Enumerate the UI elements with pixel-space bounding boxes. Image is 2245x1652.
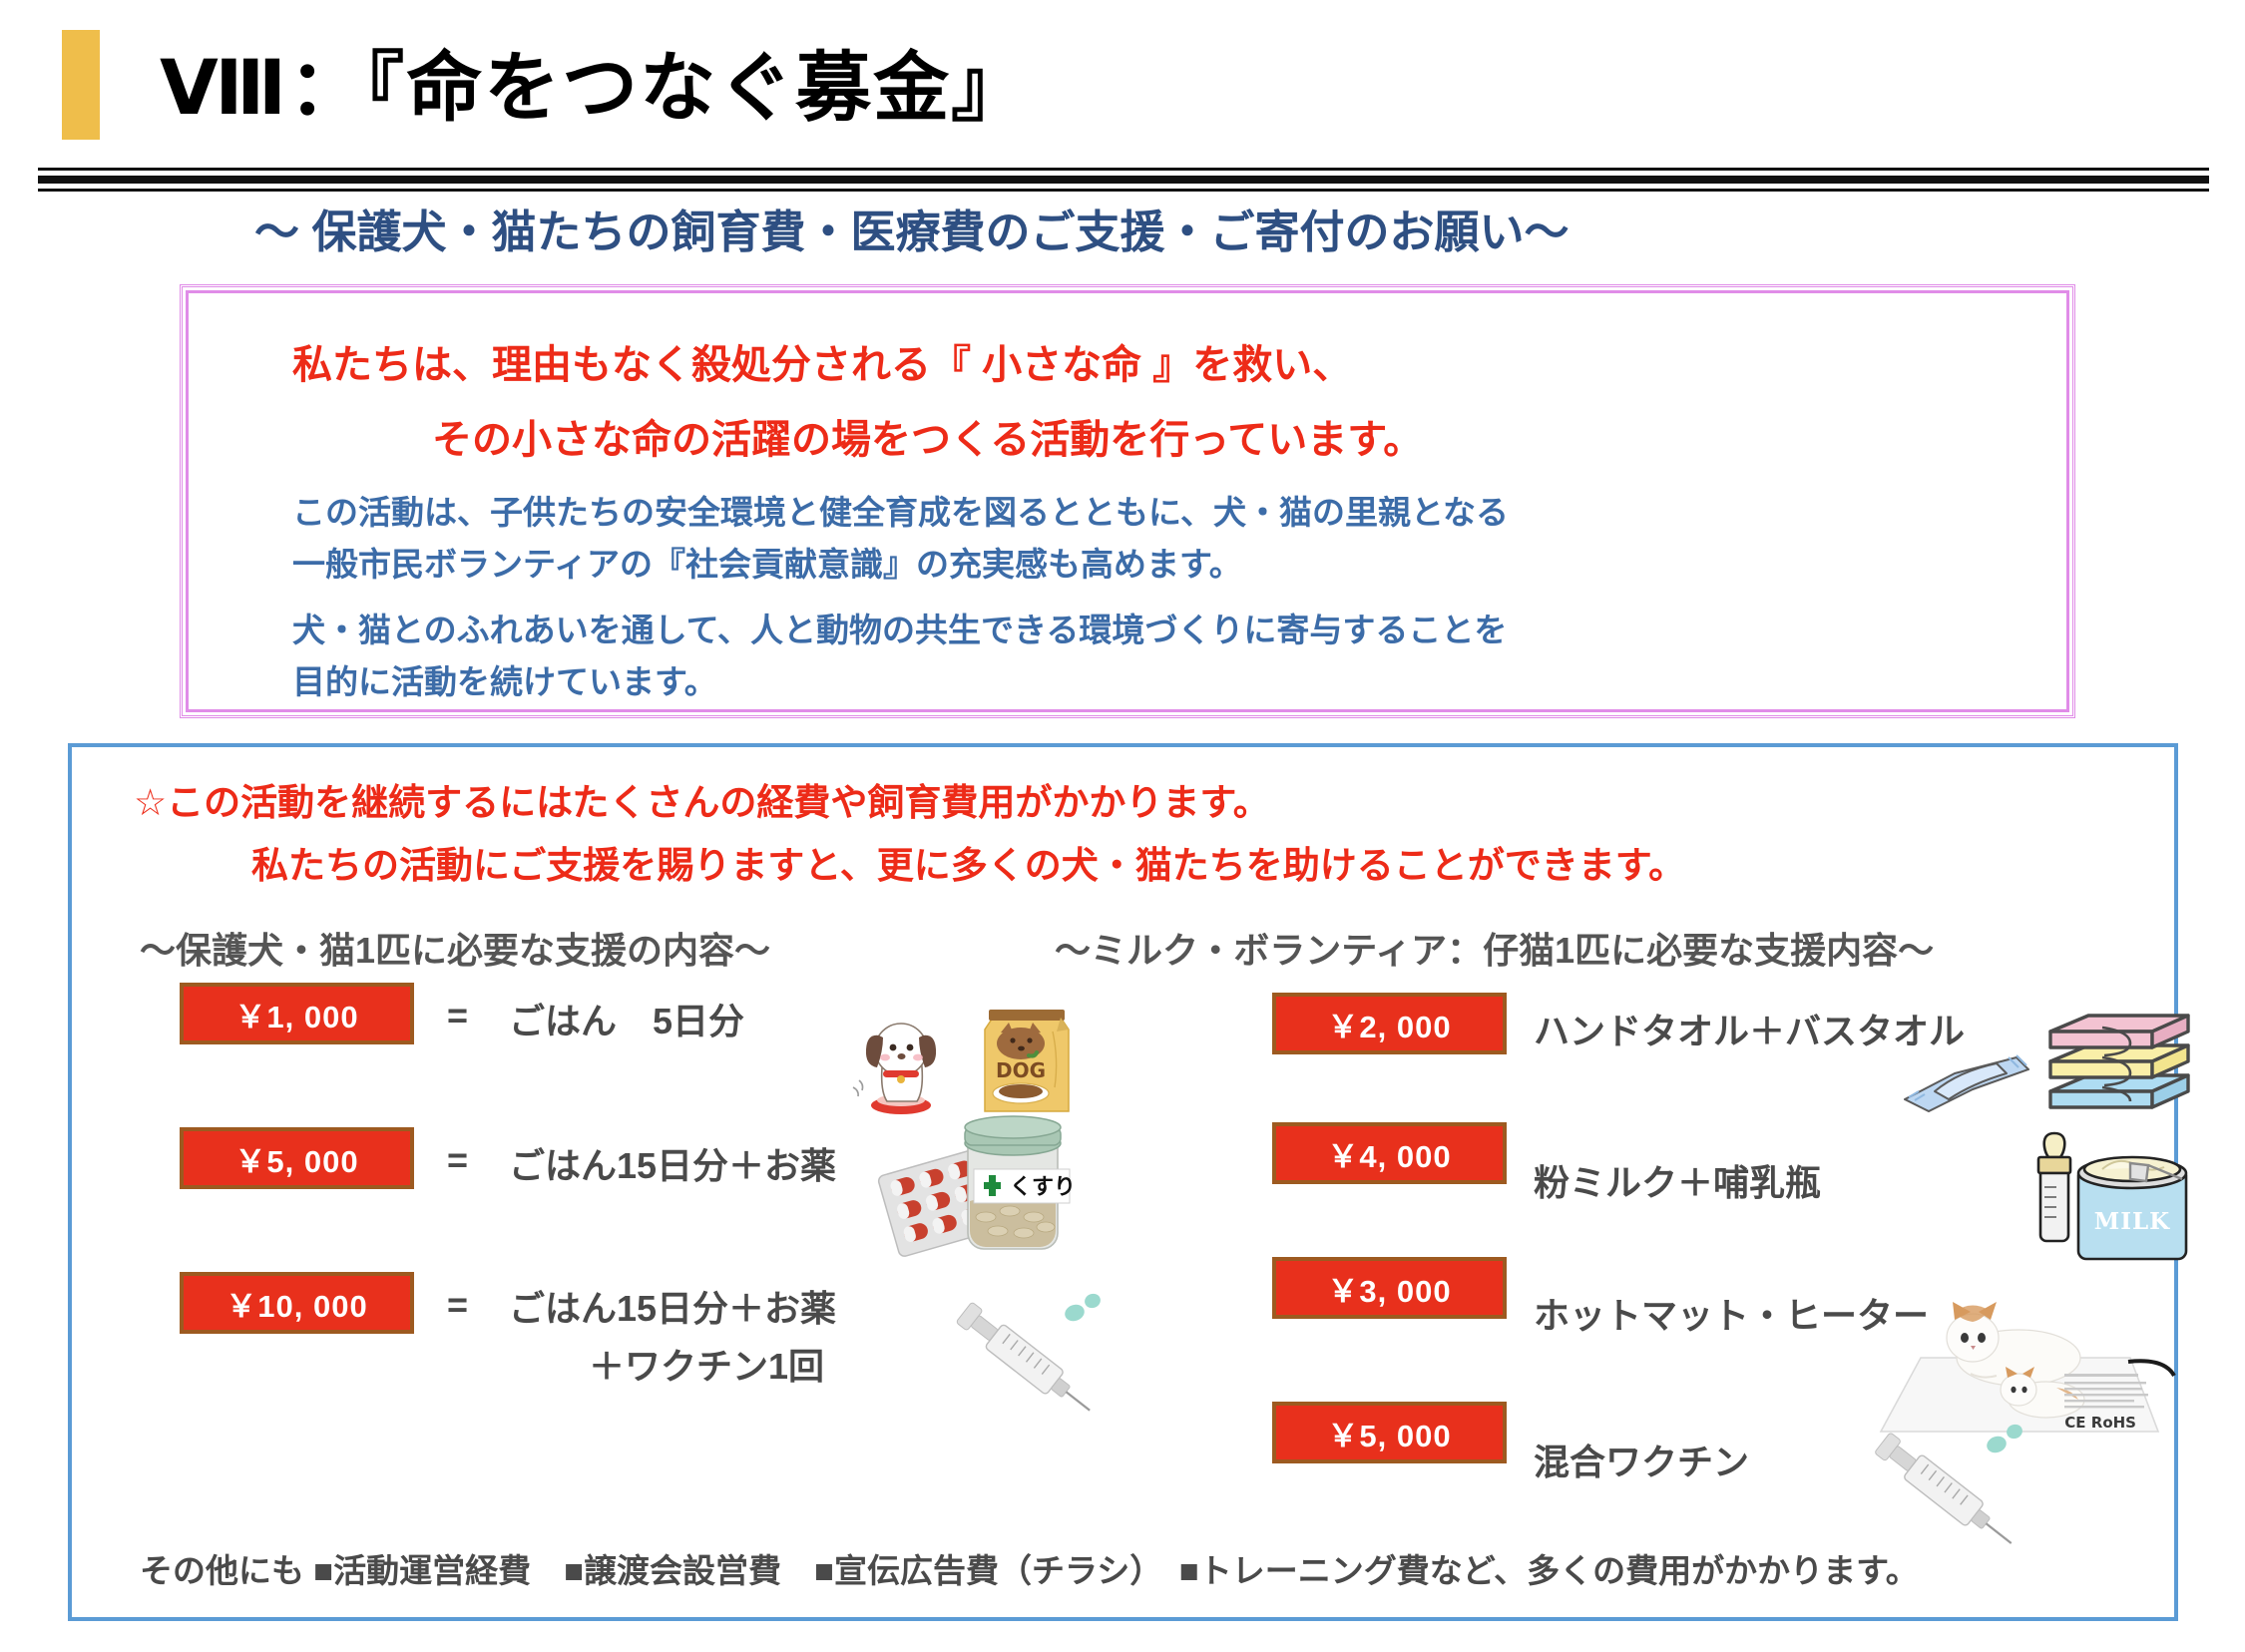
mission-navy-p2-line2: 目的に活動を続けています。 [292,656,1507,708]
title-block: Ⅷ：『命をつなぐ募金』 [0,0,2245,185]
price-description: 混合ワクチン [1534,1434,1749,1491]
equals-sign: = [447,995,468,1036]
mission-red-line-1: 私たちは、理由もなく殺処分される『 小さな命 』を救い、 [292,332,1352,390]
mission-navy-p1-line2: 一般市民ボランティアの『社会貢献意識』の充実感も高めます。 [292,539,1509,591]
title-accent-bar [62,30,100,140]
rule-line-top [38,168,2209,171]
column-heading-left: 〜保護犬・猫1匹に必要な支援の内容〜 [140,922,770,974]
price-badge: ￥4, 000 [1272,1122,1507,1184]
column-heading-right: 〜ミルク・ボランティア：仔猫1匹に必要な支援内容〜 [1055,922,1934,974]
mission-navy-paragraph-2: 犬・猫とのふれあいを通して、人と動物の共生できる環境づくりに寄与することを 目的… [292,605,1507,708]
footer-note: その他にも ■活動運営経費 ■譲渡会設営費 ■宣伝広告費（チラシ） ■トレーニン… [140,1544,1919,1592]
price-description: ごはん15日分＋お薬 ＋ワクチン1回 [509,1280,836,1396]
svg-text:MILK: MILK [2094,1208,2170,1235]
price-badge: ￥10, 000 [180,1272,414,1334]
title-divider-rule [38,168,2209,192]
mission-statement-box: 私たちは、理由もなく殺処分される『 小さな命 』を救い、 その小さな命の活躍の場… [180,284,2075,718]
mission-navy-p2-line1: 犬・猫とのふれあいを通して、人と動物の共生できる環境づくりに寄与することを [292,605,1507,656]
page-title: Ⅷ：『命をつなぐ募金』 [160,26,1029,136]
mission-navy-p1-line1: この活動は、子供たちの安全環境と健全育成を図るとともに、犬・猫の里親となる [292,487,1509,539]
price-description: 粉ミルク＋哺乳瓶 [1534,1154,1821,1212]
towels-icon [1891,988,2235,1122]
syringe-icon [933,1287,1113,1427]
rule-line-mid [38,176,2209,184]
mission-navy-paragraph-1: この活動は、子供たちの安全環境と健全育成を図るとともに、犬・猫の里親となる 一般… [292,487,1509,591]
equals-sign: = [447,1139,468,1181]
price-badge: ￥1, 000 [180,983,414,1044]
medicine-bottle-icon: くすり [858,1105,1157,1270]
page-subtitle: 〜 保護犬・猫たちの飼育費・医療費のご支援・ご寄付のお願い〜 [254,196,1570,260]
mat-certification-label: CE RoHS [2064,1414,2136,1432]
price-badge: ￥5, 000 [1272,1402,1507,1463]
price-description: ごはん 5日分 [509,993,744,1050]
price-badge: ￥3, 000 [1272,1257,1507,1319]
price-description: ごはん15日分＋お薬 [509,1137,836,1195]
donation-note-line-2: 私たちの活動にご支援を賜りますと、更に多くの犬・猫たちを助けることができます。 [251,835,1685,889]
svg-text:くすり: くすり [1010,1175,1076,1200]
price-badge: ￥2, 000 [1272,993,1507,1054]
svg-text:DOG: DOG [996,1058,1046,1082]
donation-note-line-1: ☆この活動を継続するにはたくさんの経費や飼育費用がかかります。 [134,772,1270,826]
price-badge: ￥5, 000 [180,1127,414,1189]
milk-can-and-bottle-icon: MILK [2011,1117,2225,1282]
rule-line-bottom [38,189,2209,192]
mission-red-line-2: その小さな命の活躍の場をつくる活動を行っています。 [432,407,1423,465]
equals-sign: = [447,1284,468,1326]
syringe-icon [1851,1417,2035,1561]
